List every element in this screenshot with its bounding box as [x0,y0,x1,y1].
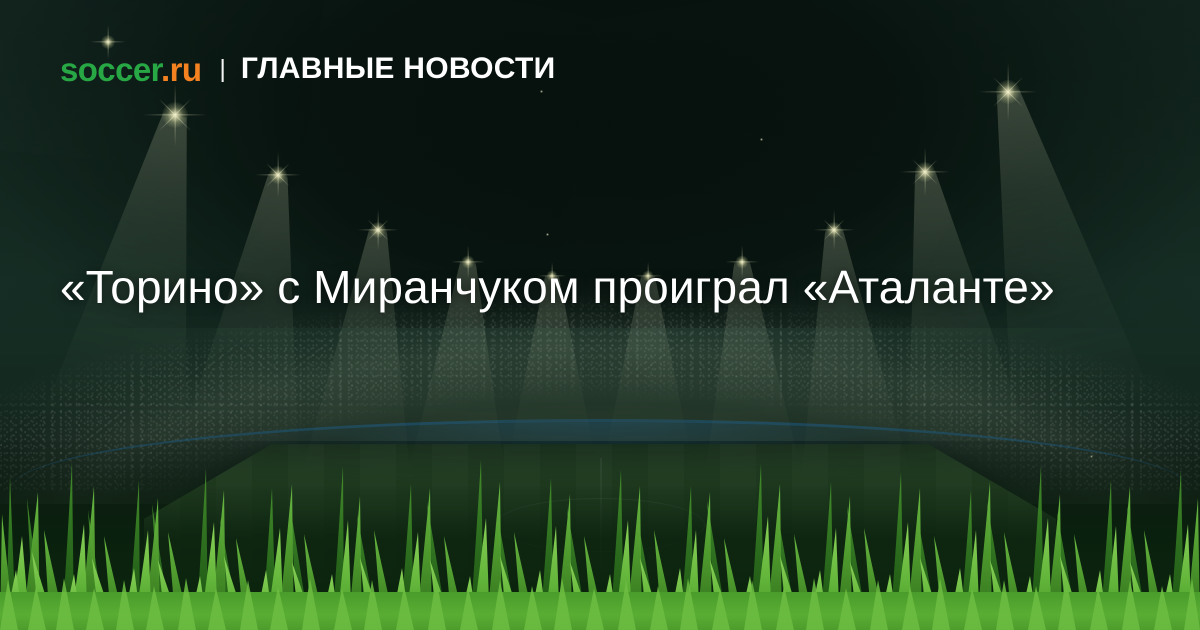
site-header: soccer.ru | ГЛАВНЫЕ НОВОСТИ [60,48,555,90]
header-separator: | [219,57,226,82]
share-card: soccer.ru | ГЛАВНЫЕ НОВОСТИ «Торино» с М… [0,0,1200,630]
site-logo[interactable]: soccer.ru [60,53,201,86]
light-sparkle [540,90,543,93]
article-headline: «Торино» с Миранчуком проиграл «Аталанте… [60,258,1070,317]
logo-text-soccer: soccer [60,51,161,88]
header-section-label: ГЛАВНЫЕ НОВОСТИ [241,54,556,84]
grass-blades [0,440,1200,630]
logo-text-ru: ru [170,51,202,88]
light-sparkle [546,233,549,236]
logo-text-dot: . [161,51,170,88]
light-sparkle [760,138,763,141]
foreground-grass [0,440,1200,630]
